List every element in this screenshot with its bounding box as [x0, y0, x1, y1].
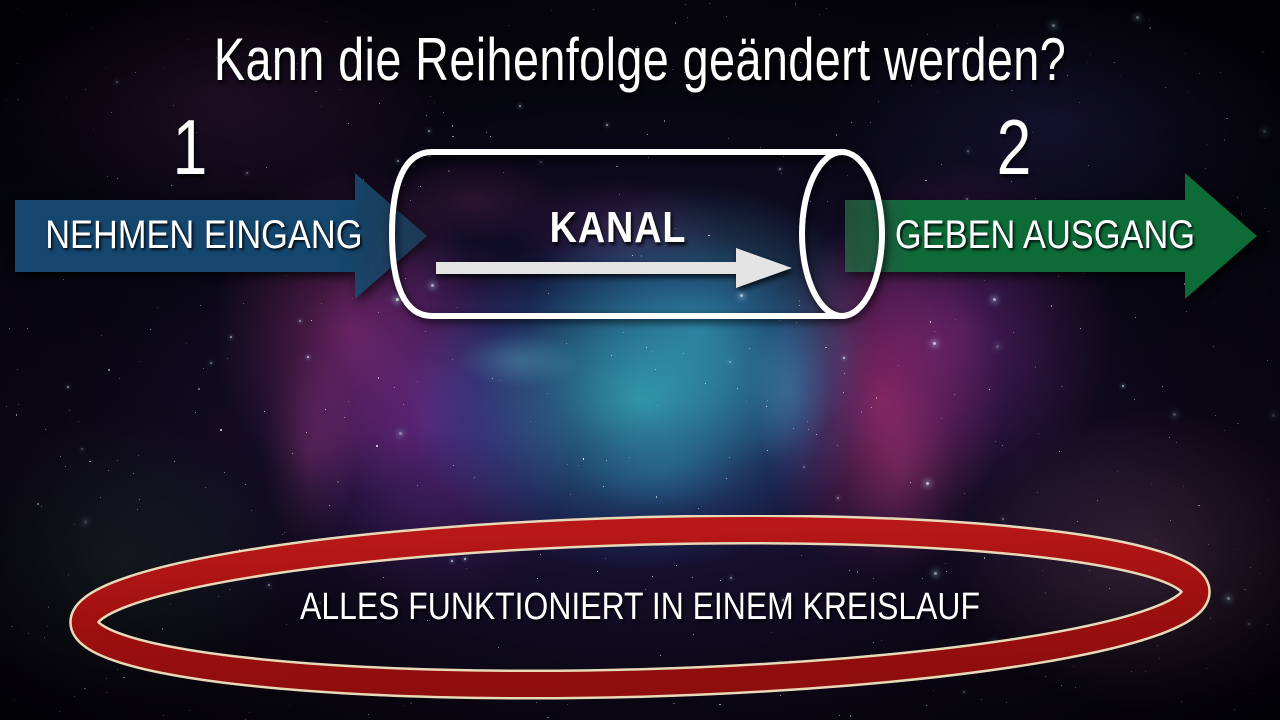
give-output-label: GEBEN AUSGANG: [890, 215, 1200, 255]
channel-flow-arrow: [436, 246, 792, 290]
page-title: Kann die Reihenfolge geändert werden?: [141, 30, 1139, 90]
cycle-loop-label: ALLES FUNKTIONIERT IN EINEM KREISLAUF: [254, 588, 1027, 626]
take-input-label: NEHMEN EINGANG: [45, 215, 355, 255]
slide-canvas: Kann die Reihenfolge geändert werden? 1 …: [0, 0, 1280, 720]
channel-label: KANAL: [489, 206, 747, 250]
